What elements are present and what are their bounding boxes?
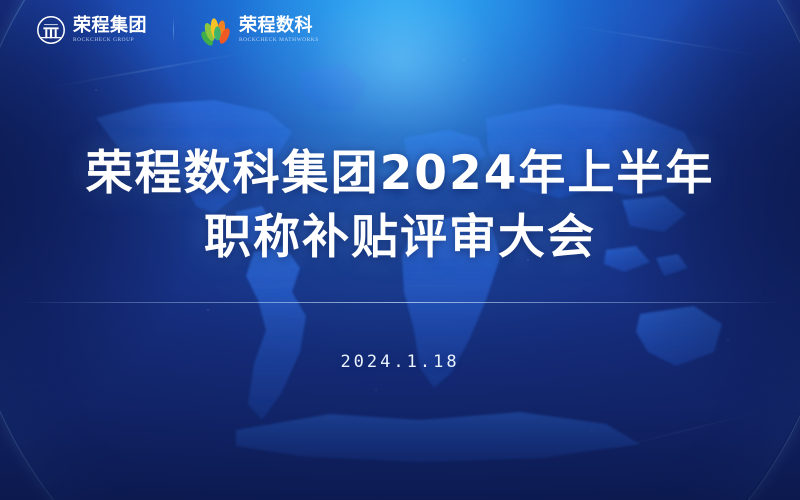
title-line-1: 荣程数科集团2024年上半年 (0, 142, 800, 206)
logo-separator (173, 17, 174, 43)
logo-name-cn: 荣程集团 (73, 17, 147, 35)
logo-bar: 荣程集团 ROCKCHECK GROUP 荣程数科 ROCKCHECK MATH… (36, 14, 319, 46)
logo-name-cn: 荣程数科 (239, 17, 319, 35)
rockcheck-group-logo-text: 荣程集团 ROCKCHECK GROUP (73, 17, 147, 43)
title-line-2: 职称补贴评审大会 (0, 206, 800, 270)
slide-date: 2024.1.18 (0, 352, 800, 372)
presentation-slide: 荣程集团 ROCKCHECK GROUP 荣程数科 ROCKCHECK MATH… (0, 0, 800, 500)
rockcheck-lotus-icon (200, 14, 232, 46)
logo-name-en: ROCKCHECK MATHWORKS (239, 38, 319, 43)
rockcheck-mathworks-logo: 荣程数科 ROCKCHECK MATHWORKS (200, 14, 319, 46)
rockcheck-mathworks-logo-text: 荣程数科 ROCKCHECK MATHWORKS (239, 17, 319, 43)
slide-title: 荣程数科集团2024年上半年 职称补贴评审大会 (0, 142, 800, 270)
rockcheck-circle-bridge-icon (36, 15, 66, 45)
logo-name-en: ROCKCHECK GROUP (73, 38, 147, 43)
title-divider-line (22, 302, 778, 303)
rockcheck-group-logo: 荣程集团 ROCKCHECK GROUP (36, 15, 147, 45)
